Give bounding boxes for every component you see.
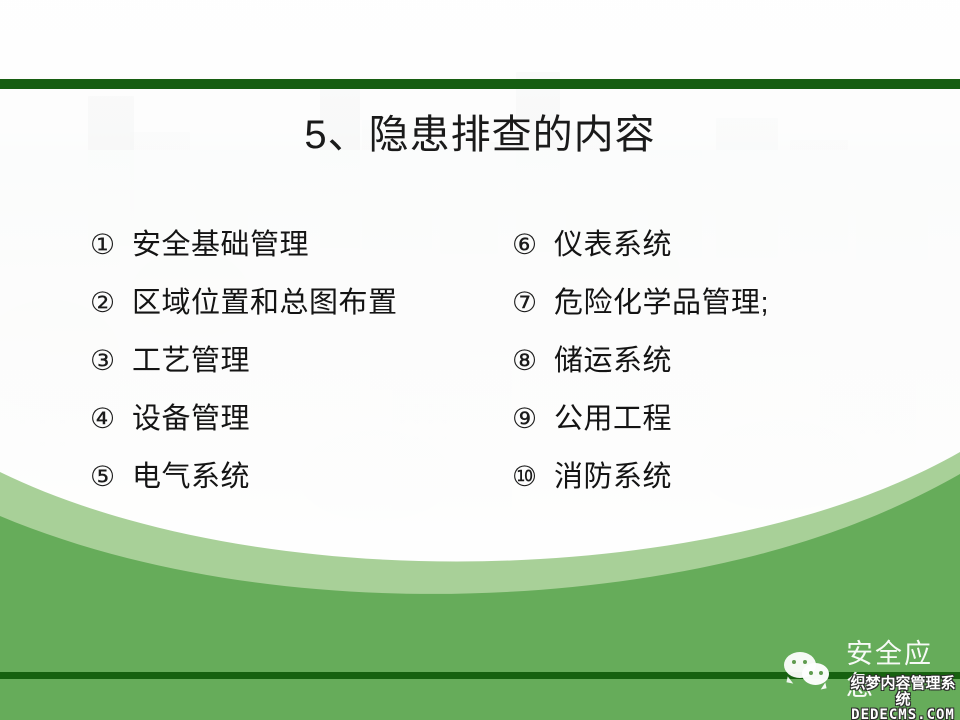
list-item-label: 仪表系统 <box>554 228 672 262</box>
list-item-marker: ⑦ <box>512 286 554 320</box>
list-item[interactable]: ⑧ 储运系统 <box>512 344 932 402</box>
slide-canvas: 5、隐患排查的内容 ① 安全基础管理 ② 区域位置和总图布置 ③ 工艺管理 ④ … <box>0 0 960 720</box>
list-item-label: 储运系统 <box>554 344 672 378</box>
list-item-label: 电气系统 <box>132 460 250 494</box>
wechat-eye <box>803 660 807 664</box>
wechat-bubble-small <box>802 663 829 685</box>
wechat-eye <box>819 671 823 675</box>
list-item-marker: ⑧ <box>512 344 554 378</box>
list-item-label: 工艺管理 <box>132 344 250 378</box>
list-item-label: 消防系统 <box>554 460 672 494</box>
list-item-marker: ⑤ <box>90 460 132 494</box>
list-item-label: 设备管理 <box>132 402 250 436</box>
list-item[interactable]: ⑩ 消防系统 <box>512 460 932 518</box>
list-item[interactable]: ⑦ 危险化学品管理; <box>512 286 932 344</box>
list-item-marker: ⑥ <box>512 228 554 262</box>
list-item[interactable]: ⑤ 电气系统 <box>90 460 510 518</box>
wechat-icon <box>782 650 838 690</box>
list-item[interactable]: ④ 设备管理 <box>90 402 510 460</box>
watermark-en: DEDECMS.COM <box>846 708 960 720</box>
list-item-marker: ④ <box>90 402 132 436</box>
list-item-marker: ③ <box>90 344 132 378</box>
list-item[interactable]: ① 安全基础管理 <box>90 228 510 286</box>
list-item-marker: ① <box>90 228 132 262</box>
top-green-rule <box>0 79 960 89</box>
wechat-eye <box>792 660 796 664</box>
list-item[interactable]: ③ 工艺管理 <box>90 344 510 402</box>
list-item[interactable]: ② 区域位置和总图布置 <box>90 286 510 344</box>
wechat-eye <box>809 671 813 675</box>
list-item[interactable]: ⑨ 公用工程 <box>512 402 932 460</box>
list-item-label: 危险化学品管理; <box>554 286 769 320</box>
watermark-cn: 织梦内容管理系统 <box>846 676 960 708</box>
list-item-label: 区域位置和总图布置 <box>132 286 398 320</box>
right-column: ⑥ 仪表系统 ⑦ 危险化学品管理; ⑧ 储运系统 ⑨ 公用工程 ⑩ 消防系统 <box>512 228 932 518</box>
list-item-marker: ② <box>90 286 132 320</box>
page-title: 5、隐患排查的内容 <box>0 110 960 160</box>
list-item-marker: ⑩ <box>512 460 554 494</box>
dedecms-watermark: 织梦内容管理系统 DEDECMS.COM <box>846 676 960 720</box>
list-item-marker: ⑨ <box>512 402 554 436</box>
left-column: ① 安全基础管理 ② 区域位置和总图布置 ③ 工艺管理 ④ 设备管理 ⑤ 电气系… <box>90 228 510 518</box>
list-item-label: 安全基础管理 <box>132 228 309 262</box>
list-item[interactable]: ⑥ 仪表系统 <box>512 228 932 286</box>
list-item-label: 公用工程 <box>554 402 672 436</box>
